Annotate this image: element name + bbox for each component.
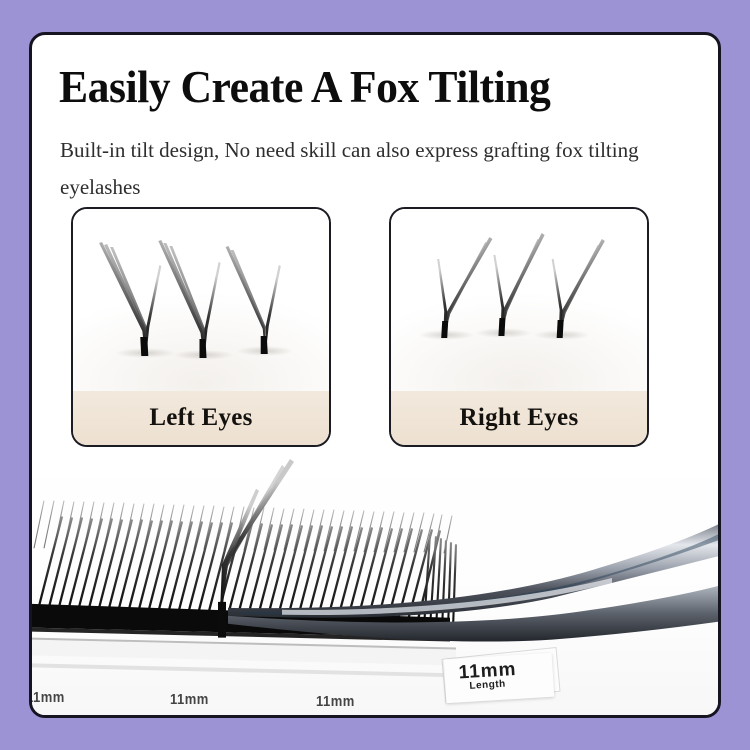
panel-label-left: Left Eyes: [73, 391, 329, 445]
page-title: Easily Create A Fox Tilting: [59, 61, 670, 113]
length-tag: 11mm Length: [444, 653, 554, 704]
ruler-strip: [32, 638, 456, 678]
left-eyes-illustration: [73, 209, 329, 392]
page-subtitle: Built-in tilt design, No need skill can …: [60, 132, 660, 206]
lash-fan: [158, 240, 233, 360]
tweezers: [218, 459, 718, 642]
lash-fan: [534, 239, 605, 340]
ruler-label-band: 11mm 11mm 11mm: [32, 689, 462, 707]
panel-right-eyes: Right Eyes: [389, 207, 649, 447]
lash-fan: [418, 237, 492, 340]
lash-fan: [226, 246, 293, 356]
panel-label-right: Right Eyes: [391, 391, 647, 445]
ruler-tick-3: 11mm: [316, 692, 355, 709]
ruler-tick-1: 11mm: [32, 688, 65, 705]
product-photo: 11mm 11mm 11mm 11mm Length: [32, 453, 718, 715]
panel-left-eyes: Left Eyes: [71, 207, 331, 447]
product-infographic: Easily Create A Fox Tilting Built-in til…: [0, 0, 750, 750]
ruler-tick-2: 11mm: [170, 690, 209, 707]
lash-fan: [99, 242, 175, 358]
right-eyes-illustration: [391, 209, 647, 392]
content-card: Easily Create A Fox Tilting Built-in til…: [29, 32, 721, 718]
length-tag-caption: Length: [469, 679, 506, 692]
